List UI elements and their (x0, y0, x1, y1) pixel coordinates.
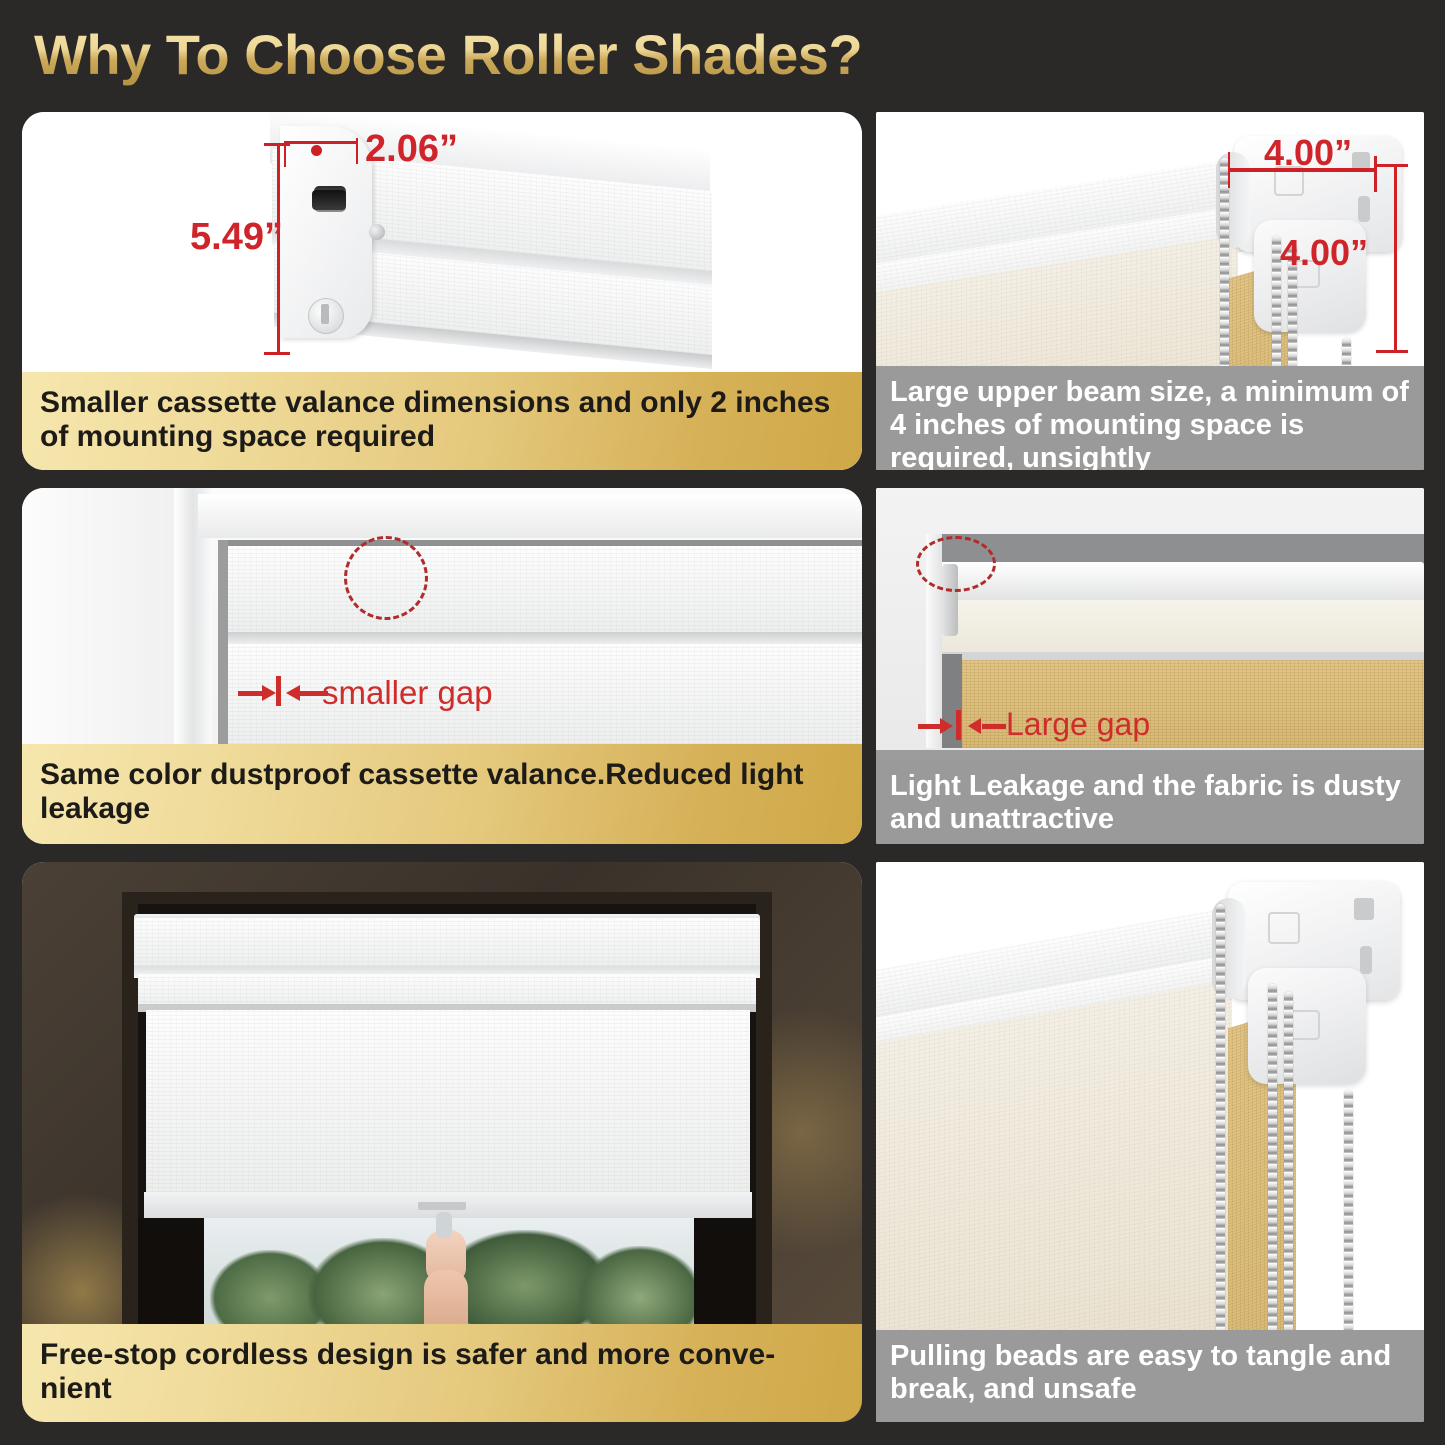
panel-top-left: 2.06” 5.49” Smaller cassette valance dim… (22, 112, 862, 470)
caption-text: Pulling beads are easy to tangle and bre… (890, 1340, 1410, 1406)
height-dimension-label: 5.49” (190, 216, 283, 259)
panel-bottom-left-caption: Free-stop cordless design is safer and m… (22, 1324, 862, 1422)
panel-middle-right: Large gap Light Leakage and the fabric i… (876, 488, 1424, 844)
height-dimension-label: 4.00” (1280, 232, 1368, 274)
panel-bottom-right-caption: Pulling beads are easy to tangle and bre… (876, 1330, 1424, 1422)
panel-middle-left-caption: Same color dustproof cassette valance.Re… (22, 744, 862, 844)
width-dimension-line (284, 143, 286, 167)
panel-middle-left: smaller gap Same color dustproof cassett… (22, 488, 862, 844)
width-dimension-label: 4.00” (1264, 132, 1352, 174)
caption-text: Light Leakage and the fabric is dusty an… (890, 770, 1410, 836)
panel-top-right: 4.00” 4.00” Large upper beam size, a min… (876, 112, 1424, 470)
caption-text: Free-stop cordless design is safer and m… (40, 1338, 844, 1406)
caption-text: Smaller cassette valance dimensions and … (40, 386, 844, 454)
page-title: Why To Choose Roller Shades? (34, 22, 862, 87)
panel-bottom-left: Free-stop cordless design is safer and m… (22, 862, 862, 1422)
width-dimension-label: 2.06” (365, 128, 458, 171)
panel-top-right-caption: Large upper beam size, a minimum of 4 in… (876, 366, 1424, 470)
panel-top-left-caption: Smaller cassette valance dimensions and … (22, 372, 862, 470)
infographic-page: Why To Choose Roller Shades? 2.06” (0, 0, 1445, 1445)
callout-circle (916, 536, 996, 592)
panel-middle-right-caption: Light Leakage and the fabric is dusty an… (876, 760, 1424, 844)
caption-text: Large upper beam size, a minimum of 4 in… (890, 376, 1410, 470)
gap-callout-label: Large gap (1006, 706, 1150, 743)
caption-text: Same color dustproof cassette valance.Re… (40, 758, 844, 826)
gap-callout-label: smaller gap (322, 674, 493, 712)
callout-circle (344, 536, 428, 620)
panel-bottom-right: Pulling beads are easy to tangle and bre… (876, 862, 1424, 1422)
